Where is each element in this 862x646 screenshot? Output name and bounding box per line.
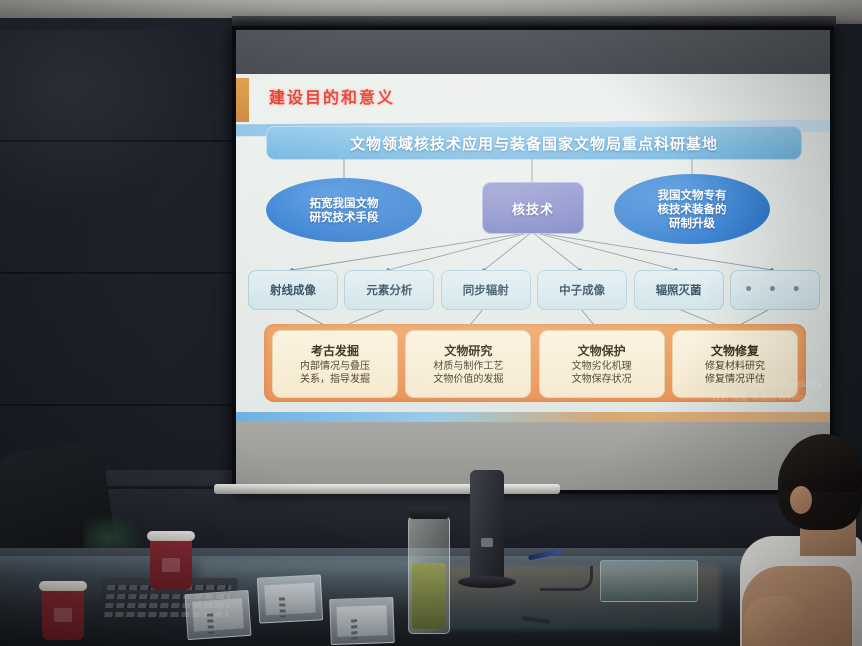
- application-card-1: 文物研究 材质与制作工艺 文物价值的发掘: [405, 330, 531, 398]
- application-heading-1: 文物研究: [444, 342, 492, 359]
- cable: [540, 566, 593, 591]
- technology-row: 射线成像 元素分析 同步辐射 中子成像 辐照灭菌 • • •: [248, 270, 820, 308]
- presentation-slide: 建设目的和意义 文物领域核技术应用与装备国家文物局重点科研基地: [236, 74, 830, 422]
- microphone-base: [458, 576, 516, 588]
- conference-room-scene: 建设目的和意义 文物领域核技术应用与装备国家文物局重点科研基地: [0, 0, 862, 646]
- tea-leaves: [412, 563, 446, 629]
- application-heading-0: 考古发掘: [311, 342, 359, 359]
- technology-item-1: 元素分析: [344, 270, 434, 310]
- projection-screen-roller: [214, 484, 560, 494]
- application-heading-2: 文物保护: [578, 342, 626, 359]
- application-line2-0: 关系，指导发掘: [300, 374, 370, 387]
- wall-light-sheen: [0, 30, 210, 210]
- application-card-2: 文物保护 文物劣化机理 文物保存状况: [539, 330, 665, 398]
- slide-title: 建设目的和意义: [269, 84, 395, 108]
- application-line2-2: 文物保存状况: [572, 374, 632, 387]
- document-pad: [600, 560, 698, 602]
- technology-item-0: 射线成像: [248, 270, 338, 310]
- application-line1-2: 文物劣化机理: [572, 361, 632, 374]
- technology-item-4: 辐照灭菌: [634, 270, 724, 310]
- wall-seam: [0, 404, 236, 406]
- application-line2-1: 文物价值的发掘: [433, 374, 503, 387]
- paper-cup: [150, 538, 192, 590]
- name-plate: [184, 590, 251, 640]
- application-card-0: 考古发掘 内部情况与叠压 关系，指导发掘: [272, 330, 398, 398]
- paper-cup: [42, 588, 84, 640]
- application-line1-0: 内部情况与叠压: [300, 361, 370, 374]
- slide-footer-rule: [236, 412, 830, 422]
- goal-right-line2: 核技术装备的: [658, 202, 727, 216]
- watermark-line2: 转到"设置"以激活 Windows。: [712, 393, 822, 402]
- technology-item-2: 同步辐射: [441, 270, 531, 310]
- technology-item-3: 中子成像: [537, 270, 627, 310]
- technology-item-more: • • •: [730, 270, 820, 310]
- goal-left-ellipse: 拓宽我国文物 研究技术手段: [266, 178, 422, 242]
- application-line1-3: 修复材料研究: [705, 361, 765, 374]
- base-title-banner: 文物领域核技术应用与装备国家文物局重点科研基地: [266, 126, 802, 160]
- microphone[interactable]: [470, 470, 504, 584]
- attendee-hand: [744, 596, 804, 646]
- windows-activation-watermark: 激活 Windows 转到"设置"以激活 Windows。: [712, 378, 822, 403]
- application-heading-3: 文物修复: [711, 342, 759, 359]
- goal-right-ellipse: 我国文物专有 核技术装备的 研制升级: [614, 174, 770, 244]
- goal-left-line2: 研究技术手段: [310, 210, 379, 224]
- name-plate: [329, 597, 395, 645]
- watermark-line1: 激活 Windows: [712, 378, 822, 392]
- attendee-ear: [790, 486, 812, 514]
- goal-left-line1: 拓宽我国文物: [310, 196, 379, 210]
- title-accent-bar: [236, 78, 249, 122]
- projection-screen-bottom-band: [236, 420, 830, 490]
- tea-jar: [408, 516, 450, 634]
- goal-right-line3: 研制升级: [658, 216, 727, 230]
- wall-seam: [0, 272, 236, 274]
- name-plate: [257, 574, 323, 623]
- tea-jar-lid: [409, 507, 449, 519]
- core-technology-box: 核技术: [482, 182, 584, 234]
- goal-right-line1: 我国文物专有: [658, 188, 727, 202]
- application-line1-1: 材质与制作工艺: [433, 361, 503, 374]
- projection-screen-top-band: [236, 30, 830, 76]
